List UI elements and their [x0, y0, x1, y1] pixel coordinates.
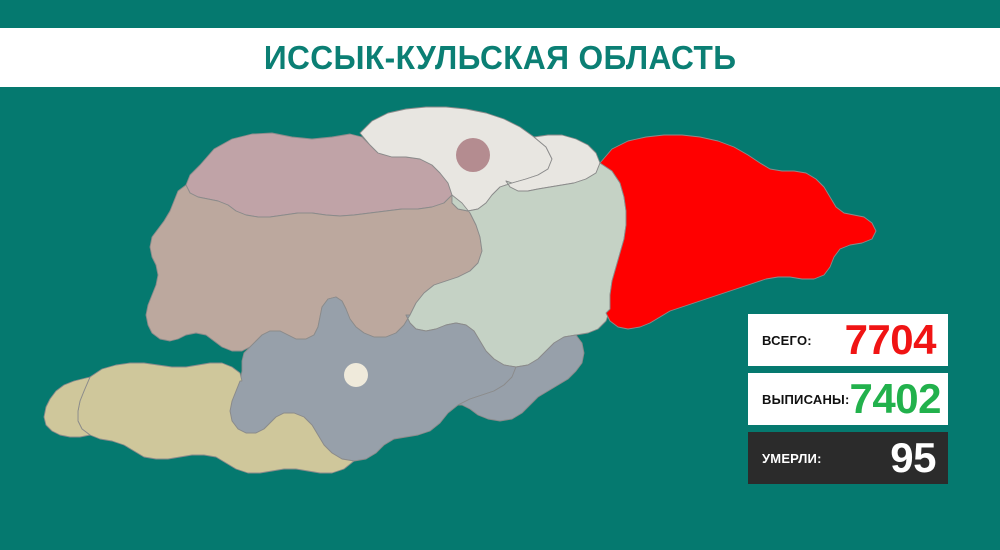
stat-value-died: 95	[822, 437, 936, 479]
title-band: ИССЫК-КУЛЬСКАЯ ОБЛАСТЬ	[0, 28, 1000, 87]
bottom-teal-strip	[0, 488, 1000, 550]
stat-value-recovered: 7402	[850, 378, 941, 420]
top-teal-strip	[0, 0, 1000, 28]
stat-row-recovered: ВЫПИСАНЫ: 7402	[748, 373, 948, 425]
stat-value-total: 7704	[812, 319, 936, 361]
stat-row-total: ВСЕГО: 7704	[748, 314, 948, 366]
statistics-panel: ВСЕГО: 7704 ВЫПИСАНЫ: 7402 УМЕРЛИ: 95	[748, 314, 948, 484]
stat-label-died: УМЕРЛИ:	[762, 451, 822, 466]
city-dot-bishkek[interactable]	[456, 138, 490, 172]
stat-label-recovered: ВЫПИСАНЫ:	[762, 392, 850, 407]
page-title: ИССЫК-КУЛЬСКАЯ ОБЛАСТЬ	[264, 39, 737, 77]
stat-label-total: ВСЕГО:	[762, 333, 812, 348]
city-dot-osh[interactable]	[344, 363, 368, 387]
infographic-root: ИССЫК-КУЛЬСКАЯ ОБЛАСТЬ	[0, 0, 1000, 550]
stat-row-died: УМЕРЛИ: 95	[748, 432, 948, 484]
map-region-issyk-kul[interactable]	[600, 135, 876, 329]
